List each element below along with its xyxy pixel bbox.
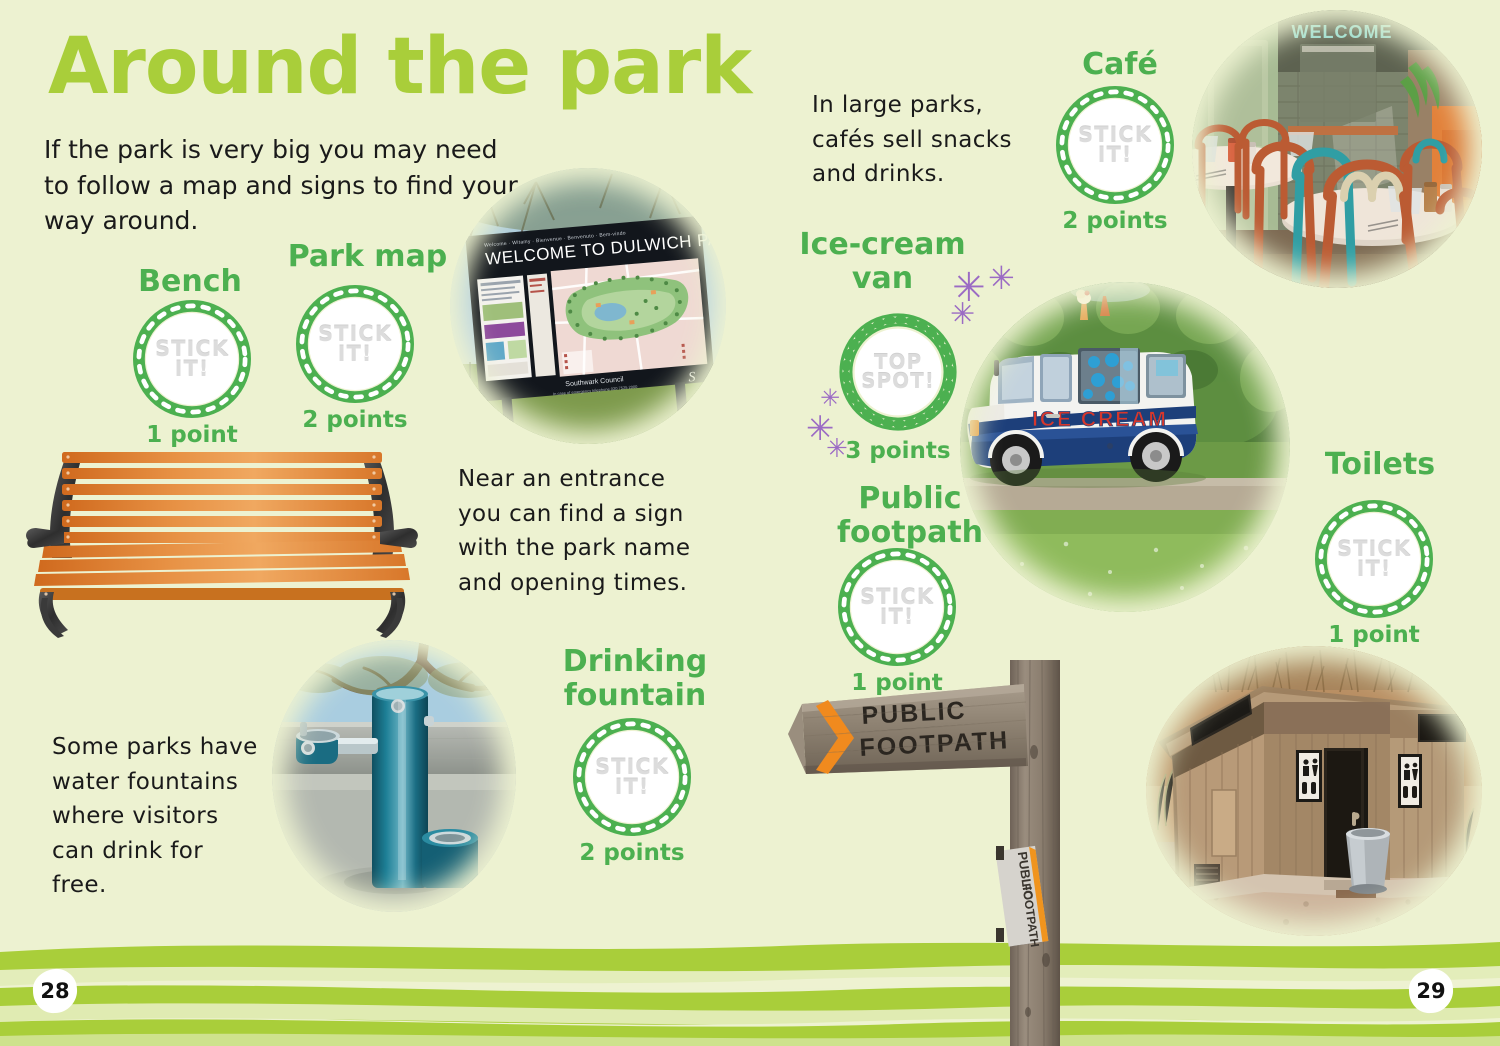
page-number-left: 28 bbox=[32, 968, 78, 1014]
photo-park-map-sign: WELCOME TO DULWICH PARK Welcome · Witamy… bbox=[450, 168, 726, 444]
sticker-badge-bench[interactable]: STICK IT! 1 point bbox=[133, 300, 251, 448]
sticker-ring: STICK IT! bbox=[573, 718, 691, 836]
park-map-note: Near an entrance you can find a sign wit… bbox=[458, 462, 728, 600]
sticker-ring: STICK IT! bbox=[296, 285, 414, 403]
photo-bench bbox=[22, 440, 462, 640]
points-label: 2 points bbox=[573, 840, 691, 866]
points-label: 1 point bbox=[1315, 622, 1433, 648]
sticker-ring-topspot: TOP SPOT! bbox=[836, 310, 960, 434]
points-label: 2 points bbox=[296, 407, 414, 433]
label-park-map: Park map bbox=[275, 240, 460, 274]
page-number-text: 28 bbox=[40, 979, 69, 1003]
sticker-badge-drinking-fountain[interactable]: STICK IT! 2 points bbox=[573, 718, 691, 866]
page-number-text: 29 bbox=[1416, 979, 1445, 1003]
photo-cafe: WELCOME bbox=[1192, 10, 1482, 288]
cafe-note: In large parks, cafés sell snacks and dr… bbox=[812, 88, 1052, 192]
photo-drinking-fountain bbox=[272, 640, 516, 912]
sticker-badge-toilets[interactable]: STICK IT! 1 point bbox=[1315, 500, 1433, 648]
sticker-badge-park-map[interactable]: STICK IT! 2 points bbox=[296, 285, 414, 433]
label-drinking-fountain: Drinking fountain bbox=[545, 645, 725, 712]
grass-band-decoration bbox=[0, 926, 1500, 1046]
photo-toilets bbox=[1146, 646, 1482, 936]
sticker-ring: STICK IT! bbox=[1056, 86, 1174, 204]
page-title: Around the park bbox=[48, 28, 751, 106]
svg-text:ICE CREAM: ICE CREAM bbox=[1032, 408, 1168, 431]
points-label: 3 points bbox=[836, 438, 960, 464]
page-number-right: 29 bbox=[1408, 968, 1454, 1014]
svg-text:S: S bbox=[688, 370, 696, 386]
label-bench: Bench bbox=[120, 265, 260, 299]
fountain-note: Some parks have water fountains where vi… bbox=[52, 730, 282, 903]
sticker-ring: STICK IT! bbox=[1315, 500, 1433, 618]
sticker-badge-cafe[interactable]: STICK IT! 2 points bbox=[1056, 86, 1174, 234]
points-label: 2 points bbox=[1056, 208, 1174, 234]
label-ice-cream-van: Ice-cream van bbox=[790, 228, 975, 295]
sticker-ring: STICK IT! bbox=[838, 548, 956, 666]
photo-footpath-signpost: PUBLIC FOOTPATH PUBLIC FOOTPATH bbox=[788, 660, 1118, 1046]
sticker-badge-ice-cream-van[interactable]: TOP SPOT! 3 points bbox=[836, 310, 960, 464]
sticker-ring: STICK IT! bbox=[133, 300, 251, 418]
label-toilets: Toilets bbox=[1300, 448, 1460, 482]
photo-ice-cream-van: ICE CREAM bbox=[960, 282, 1290, 612]
label-cafe: Café bbox=[1055, 48, 1185, 82]
book-spread: Around the park If the park is very big … bbox=[0, 0, 1500, 1046]
